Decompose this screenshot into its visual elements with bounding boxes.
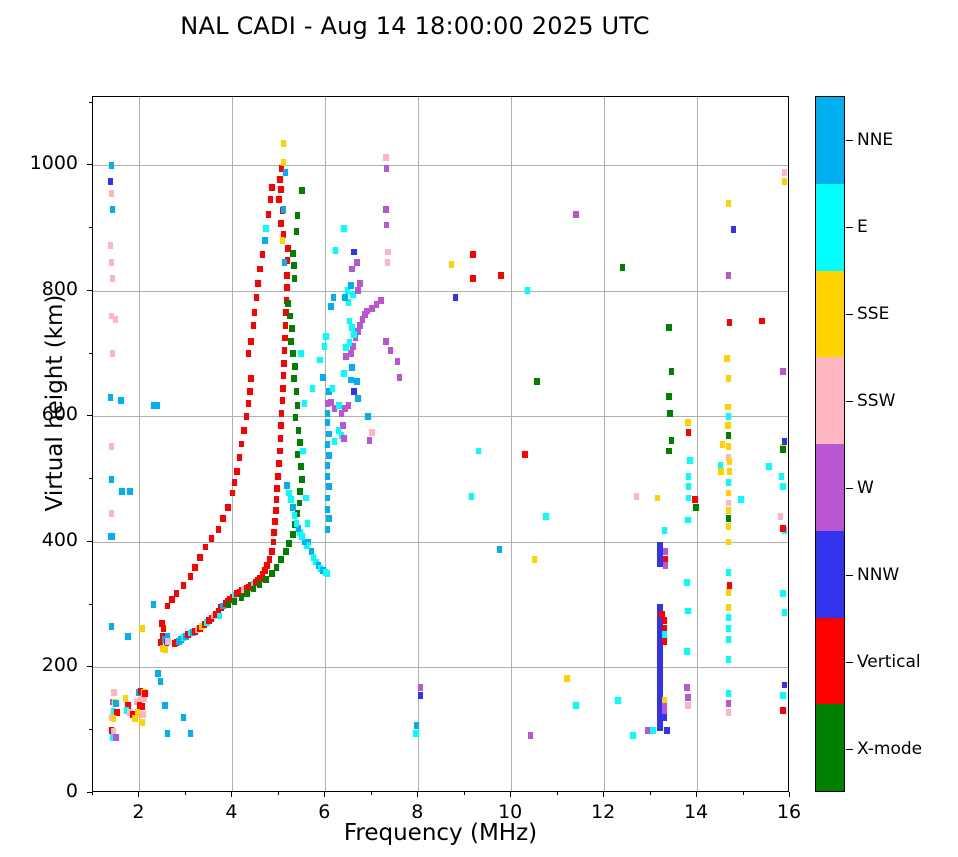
- data-point: [267, 556, 273, 563]
- data-point: [181, 714, 187, 721]
- data-point: [298, 350, 304, 357]
- data-point: [726, 515, 732, 522]
- data-point: [241, 427, 247, 434]
- data-point: [725, 404, 731, 411]
- data-point: [278, 220, 284, 227]
- data-point: [151, 601, 157, 608]
- data-point: [684, 648, 690, 655]
- data-point: [534, 378, 540, 385]
- data-point: [780, 525, 786, 532]
- y-tick: [87, 164, 92, 165]
- x-tick-label: 12: [573, 801, 633, 823]
- data-point: [686, 483, 692, 490]
- data-point: [293, 414, 299, 421]
- colorbar-tick: [846, 314, 853, 315]
- y-tick-label: 200: [8, 654, 78, 676]
- data-point: [286, 540, 292, 547]
- data-point: [384, 165, 390, 172]
- data-point: [349, 266, 355, 273]
- data-point: [351, 249, 357, 256]
- data-point: [685, 608, 691, 615]
- data-point: [281, 360, 287, 367]
- y-tick: [87, 290, 92, 291]
- data-point: [666, 448, 672, 455]
- data-point: [325, 462, 331, 469]
- data-point: [385, 249, 391, 256]
- data-point: [277, 448, 283, 455]
- data-point: [142, 690, 148, 697]
- data-point: [780, 368, 786, 375]
- colorbar-band-nnw[interactable]: [816, 531, 844, 618]
- data-point: [686, 473, 692, 480]
- data-point: [333, 247, 339, 254]
- colorbar-tick: [846, 749, 853, 750]
- data-point: [279, 410, 285, 417]
- colorbar-tick: [846, 662, 853, 663]
- data-point: [155, 670, 161, 677]
- data-point: [343, 344, 349, 351]
- data-point: [110, 350, 116, 357]
- data-point: [341, 225, 347, 232]
- data-point: [226, 601, 232, 608]
- data-point: [225, 504, 231, 511]
- data-point: [125, 633, 131, 640]
- data-point: [217, 613, 223, 620]
- y-gridline: [93, 542, 788, 543]
- data-point: [260, 251, 266, 258]
- data-point: [255, 280, 261, 287]
- colorbar-label-e: E: [857, 217, 868, 237]
- data-point: [726, 500, 732, 507]
- data-point: [497, 546, 503, 553]
- x-tick-label: 10: [480, 801, 540, 823]
- data-point: [766, 463, 772, 470]
- data-point: [310, 385, 316, 392]
- data-point: [244, 590, 250, 597]
- colorbar[interactable]: [815, 96, 845, 792]
- data-point: [325, 495, 331, 502]
- data-point: [726, 375, 732, 382]
- y-tick-label: 800: [8, 278, 78, 300]
- data-point: [292, 363, 298, 370]
- data-point: [278, 186, 284, 193]
- x-minor-tick: [464, 792, 465, 795]
- data-point: [759, 318, 765, 325]
- data-point: [573, 211, 579, 218]
- data-point: [630, 732, 636, 739]
- x-tick-label: 4: [201, 801, 261, 823]
- data-point: [113, 700, 119, 707]
- data-point: [357, 280, 363, 287]
- data-point: [326, 431, 332, 438]
- colorbar-label-nne: NNE: [857, 130, 893, 150]
- data-point: [269, 184, 275, 191]
- y-gridline: [93, 667, 788, 668]
- data-point: [684, 579, 690, 586]
- page-title: NAL CADI - Aug 14 18:00:00 2025 UTC: [0, 12, 830, 40]
- data-point: [726, 507, 732, 514]
- data-point: [349, 364, 355, 371]
- data-point: [453, 294, 459, 301]
- data-point: [667, 410, 673, 417]
- data-point: [282, 347, 288, 354]
- data-point: [284, 272, 290, 279]
- data-point: [782, 438, 788, 445]
- data-point: [726, 272, 732, 279]
- data-point: [248, 338, 254, 345]
- data-point: [276, 196, 282, 203]
- data-point: [162, 702, 168, 709]
- data-point: [234, 468, 240, 475]
- data-point: [274, 485, 280, 492]
- data-point: [110, 275, 116, 282]
- data-point: [111, 689, 117, 696]
- x-minor-tick: [650, 792, 651, 795]
- y-tick: [87, 541, 92, 542]
- data-point: [283, 548, 289, 555]
- x-tick-label: 16: [759, 801, 819, 823]
- data-point: [271, 539, 277, 546]
- data-point: [341, 435, 347, 442]
- y-tick: [87, 792, 92, 793]
- data-point: [650, 727, 656, 734]
- data-point: [684, 684, 690, 691]
- data-point: [285, 300, 291, 307]
- x-tick: [417, 792, 418, 797]
- data-point: [663, 548, 669, 555]
- data-point: [383, 338, 389, 345]
- data-point: [469, 493, 475, 500]
- data-point: [239, 441, 245, 448]
- data-point: [449, 261, 455, 268]
- data-point: [257, 581, 263, 588]
- data-point: [109, 443, 115, 450]
- data-point: [331, 294, 337, 301]
- data-point: [140, 711, 146, 718]
- data-point: [666, 393, 672, 400]
- colorbar-band-w[interactable]: [816, 444, 844, 531]
- data-point: [780, 446, 786, 453]
- data-point: [181, 582, 187, 589]
- data-point: [522, 451, 528, 458]
- y-minor-tick: [89, 102, 92, 103]
- data-point: [118, 397, 124, 404]
- data-point: [685, 419, 691, 426]
- x-gridline: [511, 97, 512, 791]
- data-point: [113, 316, 119, 323]
- colorbar-tick: [846, 488, 853, 489]
- data-point: [299, 187, 305, 194]
- data-point: [543, 513, 549, 520]
- x-minor-tick: [185, 792, 186, 795]
- data-point: [726, 432, 732, 439]
- x-tick: [789, 792, 790, 797]
- data-point: [246, 400, 252, 407]
- data-point: [127, 488, 133, 495]
- y-minor-tick: [89, 729, 92, 730]
- data-point: [351, 388, 357, 395]
- x-minor-tick: [743, 792, 744, 795]
- data-point: [294, 520, 300, 527]
- x-tick: [603, 792, 604, 797]
- data-point: [355, 287, 361, 294]
- data-point: [418, 692, 424, 699]
- data-point: [328, 303, 334, 310]
- y-tick-label: 0: [8, 780, 78, 802]
- data-point: [290, 531, 296, 538]
- colorbar-band-sse[interactable]: [816, 271, 844, 358]
- colorbar-tick: [846, 140, 853, 141]
- colorbar-band-vertical[interactable]: [816, 618, 844, 705]
- data-point: [322, 343, 328, 350]
- data-point: [108, 394, 114, 401]
- data-point: [780, 692, 786, 699]
- data-point: [782, 178, 788, 185]
- data-point: [288, 338, 294, 345]
- data-point: [297, 500, 303, 507]
- data-point: [188, 730, 194, 737]
- colorbar-label-vertical: Vertical: [857, 652, 921, 672]
- data-point: [726, 709, 732, 716]
- data-point: [782, 609, 788, 616]
- data-point: [470, 275, 476, 282]
- data-point: [346, 402, 352, 409]
- data-point: [291, 375, 297, 382]
- data-point: [110, 206, 116, 213]
- colorbar-band-nne[interactable]: [816, 97, 844, 184]
- data-point: [263, 576, 269, 583]
- data-point: [664, 727, 670, 734]
- x-minor-tick: [92, 792, 93, 795]
- data-point: [395, 358, 401, 365]
- colorbar-label-w: W: [857, 478, 874, 498]
- data-point: [192, 564, 198, 571]
- data-point: [108, 178, 114, 185]
- data-point: [778, 513, 784, 520]
- data-point: [294, 228, 300, 235]
- data-point: [292, 512, 298, 519]
- data-point: [254, 294, 260, 301]
- data-point: [263, 225, 269, 232]
- data-point: [282, 335, 288, 342]
- data-point: [720, 441, 726, 448]
- data-point: [330, 385, 336, 392]
- data-point: [109, 623, 115, 630]
- data-point: [244, 413, 250, 420]
- data-point: [264, 562, 270, 569]
- x-minor-tick: [557, 792, 558, 795]
- y-gridline: [93, 165, 788, 166]
- data-point: [269, 570, 275, 577]
- y-minor-tick: [89, 227, 92, 228]
- colorbar-label-nnw: NNW: [857, 565, 899, 585]
- data-point: [355, 395, 361, 402]
- data-point: [272, 518, 278, 525]
- data-point: [290, 350, 296, 357]
- data-point: [727, 468, 733, 475]
- data-point: [724, 355, 730, 362]
- data-point: [349, 324, 355, 331]
- data-point: [357, 322, 363, 329]
- data-point: [284, 482, 290, 489]
- colorbar-band-ssw[interactable]: [816, 357, 844, 444]
- data-point: [348, 350, 354, 357]
- data-point: [325, 410, 331, 417]
- data-point: [384, 222, 390, 229]
- colorbar-band-x-mode[interactable]: [816, 704, 844, 791]
- data-point: [726, 569, 732, 576]
- data-point: [109, 162, 115, 169]
- data-point: [662, 527, 668, 534]
- data-point: [109, 259, 115, 266]
- data-point: [108, 242, 114, 249]
- data-point: [165, 730, 171, 737]
- y-tick-label: 400: [8, 529, 78, 551]
- data-point: [726, 523, 732, 530]
- data-point: [109, 476, 115, 483]
- data-point: [662, 714, 668, 721]
- data-point: [286, 490, 292, 497]
- data-point: [292, 275, 298, 282]
- y-tick-label: 600: [8, 403, 78, 425]
- data-point: [203, 544, 209, 551]
- data-point: [498, 272, 504, 279]
- data-point: [726, 636, 732, 643]
- data-point: [388, 347, 394, 354]
- data-point: [287, 313, 293, 320]
- data-point: [354, 259, 360, 266]
- data-point: [782, 682, 788, 689]
- data-point: [325, 506, 331, 513]
- colorbar-tick: [846, 401, 853, 402]
- data-point: [278, 422, 284, 429]
- data-point: [326, 483, 332, 490]
- data-point: [573, 702, 579, 709]
- data-point: [634, 493, 640, 500]
- data-point: [726, 690, 732, 697]
- data-point: [159, 620, 165, 627]
- data-point: [274, 496, 280, 503]
- x-tick: [138, 792, 139, 797]
- data-point: [525, 287, 531, 294]
- data-point: [281, 372, 287, 379]
- plot-area[interactable]: [92, 96, 789, 792]
- data-point: [686, 495, 692, 502]
- data-point: [418, 684, 424, 691]
- x-tick-label: 6: [294, 801, 354, 823]
- data-point: [220, 515, 226, 522]
- colorbar-tick: [846, 227, 853, 228]
- data-point: [332, 438, 338, 445]
- data-point: [726, 656, 732, 663]
- data-point: [246, 350, 252, 357]
- data-point: [325, 441, 331, 448]
- data-point: [281, 159, 287, 166]
- data-point: [165, 638, 171, 645]
- data-point: [139, 625, 145, 632]
- data-point: [109, 190, 115, 197]
- data-point: [300, 448, 306, 455]
- data-point: [262, 237, 268, 244]
- data-point: [325, 526, 331, 533]
- data-point: [780, 483, 786, 490]
- data-point: [251, 322, 257, 329]
- data-point: [252, 309, 258, 316]
- data-point: [247, 388, 253, 395]
- data-point: [779, 473, 785, 480]
- data-point: [295, 402, 301, 409]
- data-point: [111, 715, 117, 722]
- data-point: [348, 282, 354, 289]
- data-point: [290, 250, 296, 257]
- data-point: [230, 490, 236, 497]
- data-point: [158, 678, 164, 685]
- data-point: [718, 468, 724, 475]
- x-tick-label: 8: [387, 801, 447, 823]
- data-point: [298, 463, 304, 470]
- data-point: [273, 507, 279, 514]
- data-point: [119, 488, 125, 495]
- data-point: [269, 548, 275, 555]
- data-point: [162, 646, 168, 653]
- data-point: [414, 722, 420, 729]
- data-point: [289, 325, 295, 332]
- data-point: [248, 375, 254, 382]
- data-point: [348, 377, 354, 384]
- colorbar-band-e[interactable]: [816, 184, 844, 271]
- data-point: [257, 266, 263, 273]
- data-point: [726, 200, 732, 207]
- data-point: [209, 535, 215, 542]
- y-minor-tick: [89, 478, 92, 479]
- colorbar-label-sse: SSE: [857, 304, 889, 324]
- data-point: [281, 140, 287, 147]
- data-point: [295, 212, 301, 219]
- data-point: [109, 510, 115, 517]
- colorbar-tick: [846, 575, 853, 576]
- data-point: [296, 427, 302, 434]
- data-point: [275, 473, 281, 480]
- data-point: [725, 422, 731, 429]
- data-point: [615, 697, 621, 704]
- data-point: [385, 259, 391, 266]
- x-tick-label: 2: [108, 801, 168, 823]
- data-point: [266, 211, 272, 218]
- data-point: [132, 715, 138, 722]
- y-gridline: [93, 416, 788, 417]
- data-point: [780, 707, 786, 714]
- x-tick: [324, 792, 325, 797]
- y-minor-tick: [89, 353, 92, 354]
- data-point: [342, 294, 348, 301]
- x-gridline: [697, 97, 698, 791]
- data-point: [354, 378, 360, 385]
- data-point: [470, 251, 476, 258]
- data-point: [687, 457, 693, 464]
- data-point: [413, 730, 419, 737]
- colorbar-label-x-mode: X-mode: [857, 739, 922, 759]
- x-minor-tick: [371, 792, 372, 795]
- data-point: [320, 374, 326, 381]
- x-minor-tick: [278, 792, 279, 795]
- data-point: [685, 517, 691, 524]
- data-point: [280, 397, 286, 404]
- data-point: [251, 586, 257, 593]
- data-point: [731, 226, 737, 233]
- data-point: [297, 439, 303, 446]
- data-point: [325, 570, 331, 577]
- data-point: [281, 206, 287, 213]
